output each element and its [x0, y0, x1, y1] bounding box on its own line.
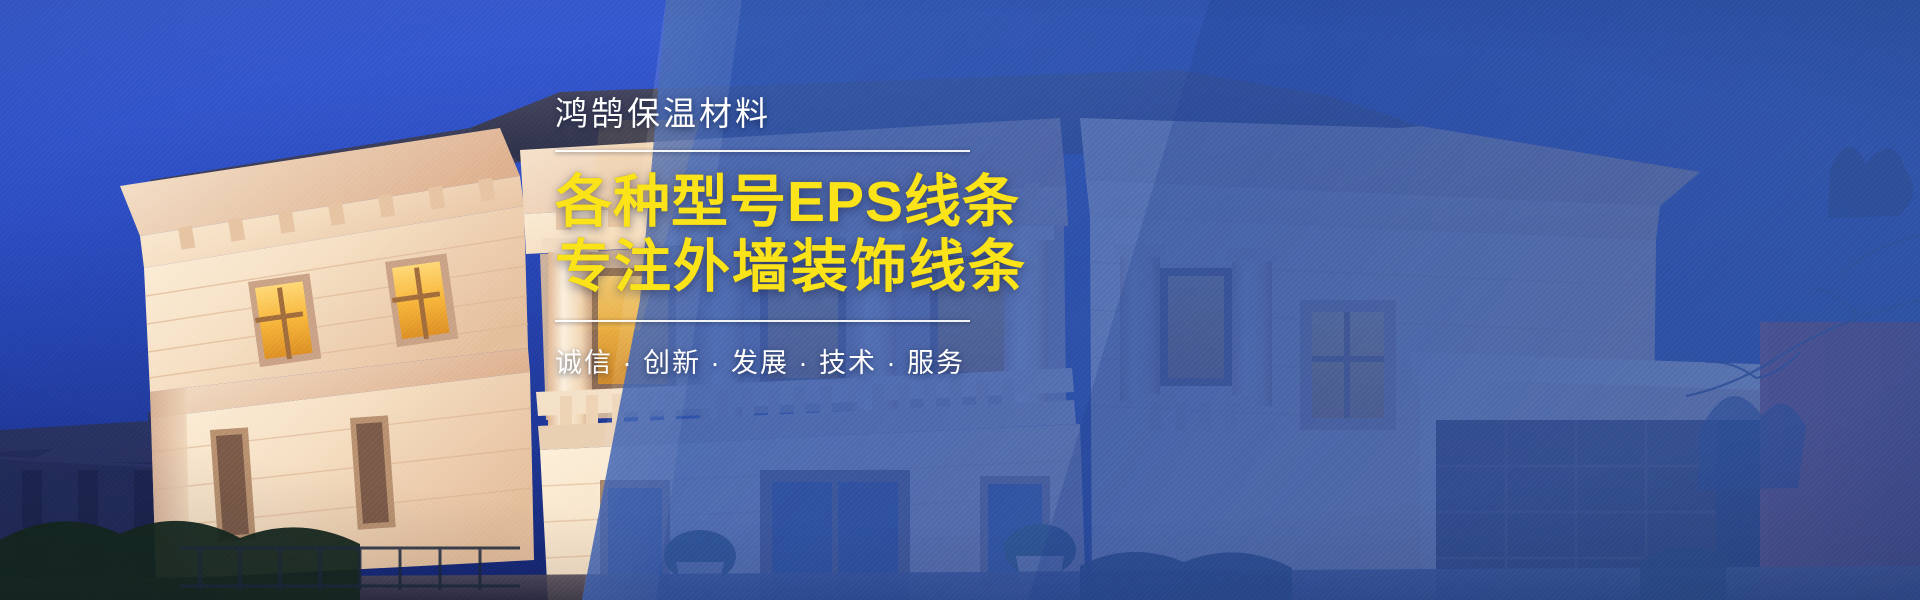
divider-bottom — [555, 320, 970, 322]
headline-group: 各种型号EPS线条 专注外墙装饰线条 — [555, 170, 1025, 300]
headline-line-1: 各种型号EPS线条 — [555, 170, 1025, 235]
banner-text-block: 鸿鹄保温材料 各种型号EPS线条 专注外墙装饰线条 诚信 · 创新 · 发展 ·… — [555, 96, 1025, 380]
tagline: 诚信 · 创新 · 发展 · 技术 · 服务 — [555, 341, 1025, 380]
brand-name: 鸿鹄保温材料 — [555, 96, 1025, 133]
headline-line-2: 专注外墙装饰线条 — [555, 235, 1025, 300]
divider-bottom-wrap — [555, 320, 1025, 322]
left-wing — [120, 128, 534, 580]
promo-banner: 鸿鹄保温材料 各种型号EPS线条 专注外墙装饰线条 诚信 · 创新 · 发展 ·… — [0, 0, 1920, 600]
divider-top — [555, 150, 970, 152]
